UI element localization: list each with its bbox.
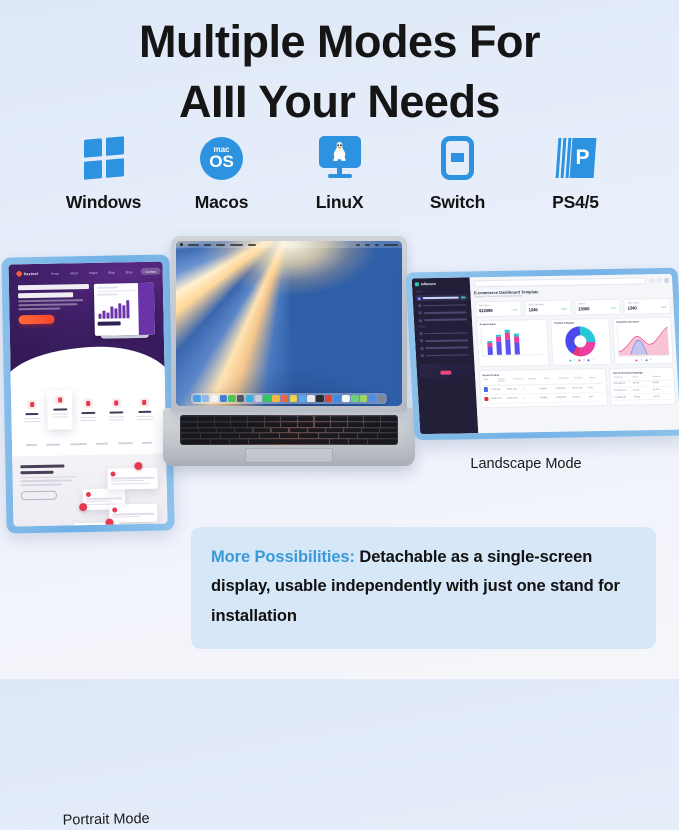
dashboard-icon — [418, 297, 421, 300]
kpi-value: 1340 — [627, 306, 636, 311]
table-cell: $2,310 — [633, 389, 651, 391]
dock-app-icon — [202, 395, 209, 402]
os-label-playstation: PS4/5 — [552, 192, 599, 213]
avatar[interactable] — [664, 278, 669, 282]
linux-penguin-monitor-icon — [319, 133, 361, 183]
more-possibilities-callout: More Possibilities: Detachable as a sing… — [191, 527, 656, 649]
table-column-header: Order Date — [559, 378, 572, 382]
menu-item — [204, 244, 211, 246]
sidebar-section-main: MENU — [416, 290, 467, 293]
feature-icon — [27, 400, 36, 409]
table-cell: Devon Lane — [572, 387, 586, 389]
table-column-header: Product ID — [513, 378, 526, 382]
table-cell: Hoodie Red — [491, 398, 505, 400]
table-cell: #PRD-1021 — [507, 388, 521, 390]
macos-dock — [191, 393, 387, 404]
box-icon — [419, 319, 422, 322]
table-cell: Pending — [540, 397, 554, 399]
kpi-value: 1245 — [528, 307, 537, 312]
landscape-mode-label: Landscape Mode — [376, 456, 676, 472]
recent-orders-table: Recent Orders Order Product Name Product… — [478, 368, 607, 407]
portrait-monitor: Paxtool Home About Pages Blog Shop Conta… — [1, 254, 174, 533]
landing-testimonial-text — [20, 464, 84, 500]
charts-row: Product Sales Product Category — [475, 317, 673, 368]
landing-hero-content — [9, 275, 164, 341]
windows-logo-icon — [84, 133, 124, 183]
panel-title: Customer Insurance — [616, 320, 667, 324]
dock-app-icon — [272, 395, 279, 402]
landing-nav-link: Shop — [122, 269, 135, 275]
landing-nav-link: About — [67, 270, 81, 276]
clock — [384, 244, 398, 246]
table-cell: Campaign 01 — [613, 383, 631, 385]
landing-feature-card — [75, 394, 101, 428]
macos-wallpaper — [176, 241, 402, 406]
playstation-logo-icon: P — [555, 133, 597, 183]
dock-app-icon — [378, 395, 385, 402]
table-column-header: Campaign — [613, 377, 631, 379]
os-item-windows: Windows — [45, 133, 163, 213]
landing-brand-name: Paxtool — [24, 271, 38, 275]
kpi-value: 13000 — [578, 306, 590, 311]
panel-title: Product Category — [554, 321, 605, 325]
penguin-glyph — [332, 141, 347, 163]
macos-glyph-main: OS — [209, 153, 234, 170]
landscape-monitor: Influence MENU PAGES — [405, 268, 679, 440]
orders-icon — [418, 312, 421, 315]
dock-app-icon — [325, 395, 332, 402]
table-cell: 02/08/2024 — [556, 387, 570, 389]
table-column-header: Order — [483, 379, 496, 383]
sidebar-item-mail — [418, 337, 470, 344]
table-cell: #PRD-1042 — [507, 397, 521, 399]
dock-app-icon — [290, 395, 297, 402]
sidebar-item-blog — [419, 352, 471, 359]
sidebar-item-chat — [418, 344, 470, 351]
area-chart — [616, 325, 669, 357]
callout-highlight: More Possibilities: — [211, 548, 355, 566]
landing-hero-section: Paxtool Home About Pages Blog Shop Conta… — [8, 262, 164, 373]
search-input[interactable] — [473, 277, 646, 287]
mail-icon — [420, 339, 423, 342]
os-item-switch: Switch — [399, 133, 517, 213]
macos-logo-icon: mac OS — [200, 133, 243, 183]
avatar — [79, 503, 87, 511]
sidebar-section-pages: PAGES — [418, 326, 469, 329]
macbook-trackpad — [245, 448, 333, 463]
table-row: Hoodie Red #PRD-1042 1 Pending 03/08/202… — [484, 393, 604, 404]
landing-logo: Paxtool — [17, 271, 38, 276]
bar-chart-panel: Product Sales — [475, 319, 549, 368]
macbook-lid — [171, 236, 407, 412]
kpi-delta: +3.5% — [561, 308, 567, 310]
headline-line-2: AIII Your Needs — [0, 72, 679, 132]
dashboard-brand: Influence — [415, 281, 467, 286]
table-cell: Marvin Jr. — [572, 396, 586, 398]
landing-nav-link: Blog — [105, 269, 117, 275]
menu-item — [216, 244, 225, 246]
kpi-card: Visitors 13000 +2.1% — [574, 299, 621, 316]
bell-icon[interactable] — [657, 278, 662, 282]
table-cell: $240 — [589, 396, 603, 398]
dashboard-topbar — [473, 277, 669, 287]
area-chart-panel: Customer Insurance A — [612, 317, 673, 366]
settings-gear-icon[interactable] — [649, 278, 654, 282]
landing-testimonial-button — [21, 490, 57, 500]
feature-icon — [112, 399, 121, 408]
page-title: Multiple Modes For AIII Your Needs — [0, 12, 679, 132]
kpi-card: Total Sales $12099 +1.2% — [474, 300, 521, 317]
dock-app-icon — [228, 395, 235, 402]
macbook-laptop — [163, 236, 415, 468]
sidebar-item-pages — [417, 330, 469, 337]
dock-app-icon — [281, 395, 288, 402]
dashboard-main: E-commerce Dashboard Template Dashboard … — [470, 274, 679, 433]
landing-feature-card — [104, 394, 130, 428]
testimonial-card — [109, 504, 157, 523]
macos-menu-bar — [176, 241, 402, 248]
kpi-delta: +2.1% — [610, 307, 616, 309]
landing-feature-card — [47, 391, 73, 430]
wifi-icon — [365, 244, 370, 246]
chat-icon — [420, 347, 423, 350]
sidebar-item-orders — [416, 309, 468, 316]
dashboard-app: Influence MENU PAGES — [412, 274, 679, 434]
table-cell: Campaign 03 — [614, 396, 632, 398]
table-cell: $2,150 — [653, 395, 671, 397]
kpi-label: Total Customers — [528, 303, 567, 306]
sidebar-item-products — [417, 316, 469, 323]
landing-hero-device-mockup — [94, 283, 155, 339]
table-cell: Campaign 02 — [614, 390, 632, 392]
battery-icon — [375, 244, 379, 246]
landing-testimonials-section — [12, 453, 167, 526]
kpi-card: Total Orders 1340 -0.4% — [623, 298, 670, 315]
kpi-delta: +1.2% — [511, 309, 517, 311]
table-column-header: Revenue — [652, 376, 670, 378]
donut-chart-panel: Product Category A B C — [550, 318, 611, 367]
donut-chart — [565, 327, 597, 357]
status-badge — [461, 296, 466, 299]
landing-hero-text — [18, 284, 90, 340]
area-chart-svg — [617, 325, 668, 356]
kpi-value: $12099 — [479, 308, 493, 313]
table-column-header: Customer — [574, 377, 587, 381]
table-cell: $1,240 — [633, 383, 651, 385]
sidebar-item-dashboard — [416, 294, 468, 301]
dock-app-icon — [360, 395, 367, 402]
kpi-label: Total Sales — [479, 304, 518, 307]
product-thumbnail — [483, 387, 488, 392]
table-column-header: Quantity — [528, 378, 541, 382]
menu-item — [230, 244, 243, 246]
dock-app-icon — [219, 395, 226, 402]
os-label-linux: LinuX — [316, 192, 364, 213]
top-campaign-table: Top Performing Campaign Campaign Clicks … — [609, 367, 676, 405]
dock-app-icon — [369, 395, 376, 402]
table-cell: Shipped — [539, 388, 553, 390]
apple-logo-icon — [180, 243, 183, 246]
os-label-macos: Macos — [195, 192, 248, 213]
dock-app-icon — [316, 395, 323, 402]
sidebar-promo-card — [419, 363, 472, 378]
table-cell: $120 — [588, 387, 602, 389]
blog-icon — [421, 354, 424, 357]
status-icon — [356, 244, 360, 246]
table-cell: 2 — [523, 388, 537, 390]
table-cell: T-Shirt Blue — [490, 388, 504, 390]
table-cell: 03/08/2024 — [556, 396, 570, 398]
table-column-header: Product Name — [498, 379, 511, 383]
landing-nav-link: Pages — [86, 269, 101, 275]
promo-image-root: Multiple Modes For AIII Your Needs Windo… — [0, 0, 679, 679]
feature-icon — [140, 398, 149, 407]
landing-feature-cards — [19, 393, 158, 434]
kpi-label: Total Orders — [627, 302, 666, 305]
headline-line-1: Multiple Modes For — [139, 16, 540, 67]
table-cell: $1,980 — [634, 396, 652, 398]
dock-app-icon — [263, 395, 270, 402]
panel-title: Top Performing Campaign — [613, 371, 670, 375]
chart-legend: A B C — [556, 359, 607, 362]
dock-app-icon — [193, 395, 200, 402]
tables-row: Recent Orders Order Product Name Product… — [478, 367, 675, 408]
bar-group — [495, 334, 501, 355]
dock-app-icon — [246, 395, 253, 402]
portrait-monitor-screen: Paxtool Home About Pages Blog Shop Conta… — [8, 262, 167, 527]
dock-app-icon — [351, 395, 358, 402]
os-label-windows: Windows — [66, 192, 141, 213]
sidebar-item-ecommerce — [416, 302, 468, 309]
mockup-bar-chart — [97, 298, 136, 319]
table-row: Campaign 03 $1,980 $2,150 — [614, 394, 671, 402]
landing-hero-cta-button — [18, 315, 54, 325]
chart-legend: A B — [618, 359, 669, 362]
landing-feature-card — [132, 393, 158, 427]
table-column-header: Clicks — [633, 376, 651, 378]
os-item-playstation: P PS4/5 — [517, 133, 635, 213]
bar-group — [513, 333, 519, 355]
kpi-label: Visitors — [578, 302, 617, 305]
landscape-monitor-screen: Influence MENU PAGES — [412, 274, 679, 434]
panel-title: Product Sales — [480, 322, 544, 326]
os-label-switch: Switch — [430, 192, 485, 213]
portrait-mode-label: Portrait Mode — [16, 810, 196, 829]
feature-icon — [84, 399, 93, 408]
os-compatibility-row: Windows mac OS Macos — [0, 133, 679, 213]
menu-item — [248, 244, 256, 246]
feature-icon — [55, 396, 64, 405]
brand-name: Influence — [421, 282, 436, 286]
bar-group — [487, 341, 493, 355]
promo-button — [440, 370, 451, 374]
nintendo-switch-icon — [441, 133, 474, 183]
pages-icon — [420, 332, 423, 335]
cart-icon — [418, 304, 421, 307]
dock-app-icon — [342, 395, 349, 402]
dock-app-icon — [307, 395, 314, 402]
bar-chart — [480, 327, 545, 356]
kpi-delta: -0.4% — [660, 307, 666, 309]
landing-nav-link: Home — [48, 270, 62, 276]
menu-item — [188, 244, 199, 246]
playstation-glyph-p: P — [576, 144, 589, 171]
testimonial-card — [107, 468, 157, 490]
product-thumbnail — [484, 397, 489, 402]
table-cell: $3,200 — [653, 389, 671, 391]
avatar — [134, 462, 142, 470]
dock-app-icon — [255, 395, 262, 402]
brand-logo-icon — [415, 282, 419, 286]
table-column-header: Status — [543, 378, 556, 382]
landing-feature-card — [19, 395, 45, 429]
dock-app-icon — [334, 395, 341, 402]
dock-app-icon — [211, 395, 218, 402]
dock-app-icon — [298, 395, 305, 402]
table-cell: 1 — [524, 397, 538, 399]
kpi-row: Total Sales $12099 +1.2% Total Customers… — [474, 298, 670, 317]
os-item-linux: LinuX — [281, 133, 399, 213]
macbook-screen — [176, 241, 402, 406]
landing-partner-logos — [20, 431, 158, 452]
bar-group — [504, 330, 510, 355]
table-column-header: Amount — [589, 377, 602, 381]
os-item-macos: mac OS Macos — [163, 133, 281, 213]
dashboard-sidebar: Influence MENU PAGES — [412, 277, 479, 434]
macbook-keyboard — [180, 415, 398, 445]
dock-app-icon — [237, 395, 244, 402]
kpi-card: Total Customers 1245 +3.5% — [524, 300, 571, 317]
table-cell: $4,500 — [653, 382, 671, 384]
